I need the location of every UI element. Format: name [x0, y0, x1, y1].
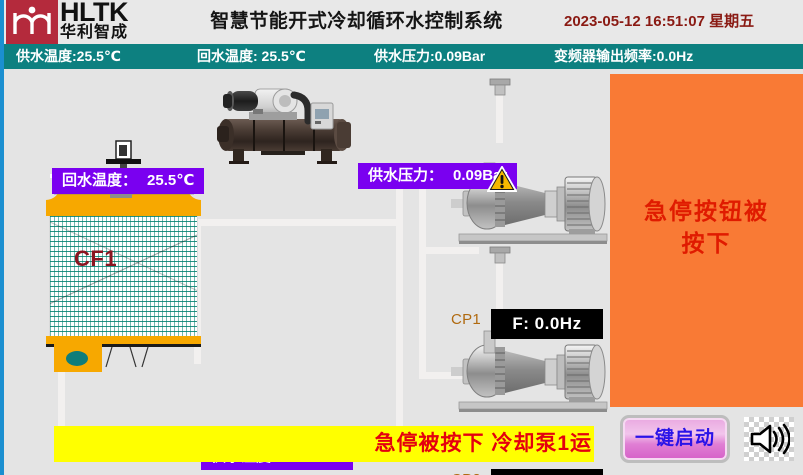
return-temp-readout: 回水温度：25.5℃	[52, 168, 204, 194]
pump-cp2-graphic[interactable]	[451, 327, 611, 417]
return-temp-label: 回水温度：	[62, 172, 137, 189]
tower-fill-media	[49, 216, 198, 336]
pipe-cp1-branch	[419, 179, 426, 254]
one-key-start-button[interactable]: 一键启动	[620, 415, 730, 463]
return-temp-value: 25.5℃	[147, 172, 194, 189]
supply-pressure-label: 供水压力：	[368, 167, 443, 184]
pipe-chiller-header	[194, 219, 399, 226]
cooling-tower-tag: CF1	[74, 246, 117, 272]
pump-cp1-tag: CP1	[451, 311, 481, 328]
alarm-banner: 急停被按下 冷却泵1运	[54, 426, 594, 462]
page-title: 智慧节能开式冷却循环水控制系统	[179, 8, 534, 38]
status-bar: 供水温度:25.5℃ 回水温度: 25.5℃ 供水压力:0.09Bar 变频器输…	[4, 44, 803, 69]
tower-basin-pump	[54, 344, 102, 372]
status-supply-pressure: 供水压力:0.09Bar	[374, 44, 485, 69]
tower-basin	[46, 336, 201, 344]
header-datetime: 2023-05-12 16:51:07 星期五	[564, 10, 799, 36]
logo-text-en: HLTK	[60, 0, 176, 24]
pipe-main-riser	[396, 179, 403, 437]
emergency-stop-message: 急停按钮被 按下	[610, 196, 803, 260]
alarm-message: 急停被按下 冷却泵1运	[54, 426, 594, 462]
mute-toggle-button[interactable]	[744, 417, 794, 461]
chiller-unit[interactable]	[209, 79, 364, 164]
valve-cp2-discharge-icon	[487, 245, 513, 265]
left-edge-rail	[0, 0, 4, 475]
pipe-cp2-branch	[419, 247, 426, 379]
hmi-screen: HLTK 华利智成 智慧节能开式冷却循环水控制系统 2023-05-12 16:…	[0, 0, 803, 475]
pump-cp1-frequency-display: F: 0.0Hz	[491, 309, 603, 339]
process-diagram: CF1	[4, 69, 803, 475]
speaker-mute-icon	[748, 422, 790, 456]
valve-cp1-discharge-icon	[487, 77, 513, 97]
status-return-temp: 回水温度: 25.5℃	[197, 44, 306, 69]
cooling-tower-cf1[interactable]: CF1	[46, 174, 201, 364]
logo-text: HLTK 华利智成	[60, 0, 176, 44]
header-bar: HLTK 华利智成 智慧节能开式冷却循环水控制系统 2023-05-12 16:…	[4, 0, 803, 44]
company-logo: HLTK 华利智成	[4, 0, 176, 44]
status-inverter-frequency: 变频器输出频率:0.0Hz	[554, 44, 693, 69]
logo-text-cn: 华利智成	[60, 24, 176, 41]
pump-cp1-warning-icon	[487, 166, 517, 193]
emergency-stop-message-line2: 按下	[610, 228, 803, 260]
status-supply-temp: 供水温度:25.5℃	[16, 44, 121, 69]
tower-pump-impeller-icon	[66, 351, 88, 366]
emergency-stop-panel[interactable]: 急停按钮被 按下	[610, 74, 803, 407]
pump-cp2-tag: CP2	[451, 471, 481, 475]
one-key-start-label: 一键启动	[623, 418, 727, 460]
emergency-stop-message-line1: 急停按钮被	[610, 196, 803, 228]
logo-mark-icon	[6, 0, 58, 44]
pump-cp2-frequency-display: F: 0.0Hz	[491, 469, 603, 475]
